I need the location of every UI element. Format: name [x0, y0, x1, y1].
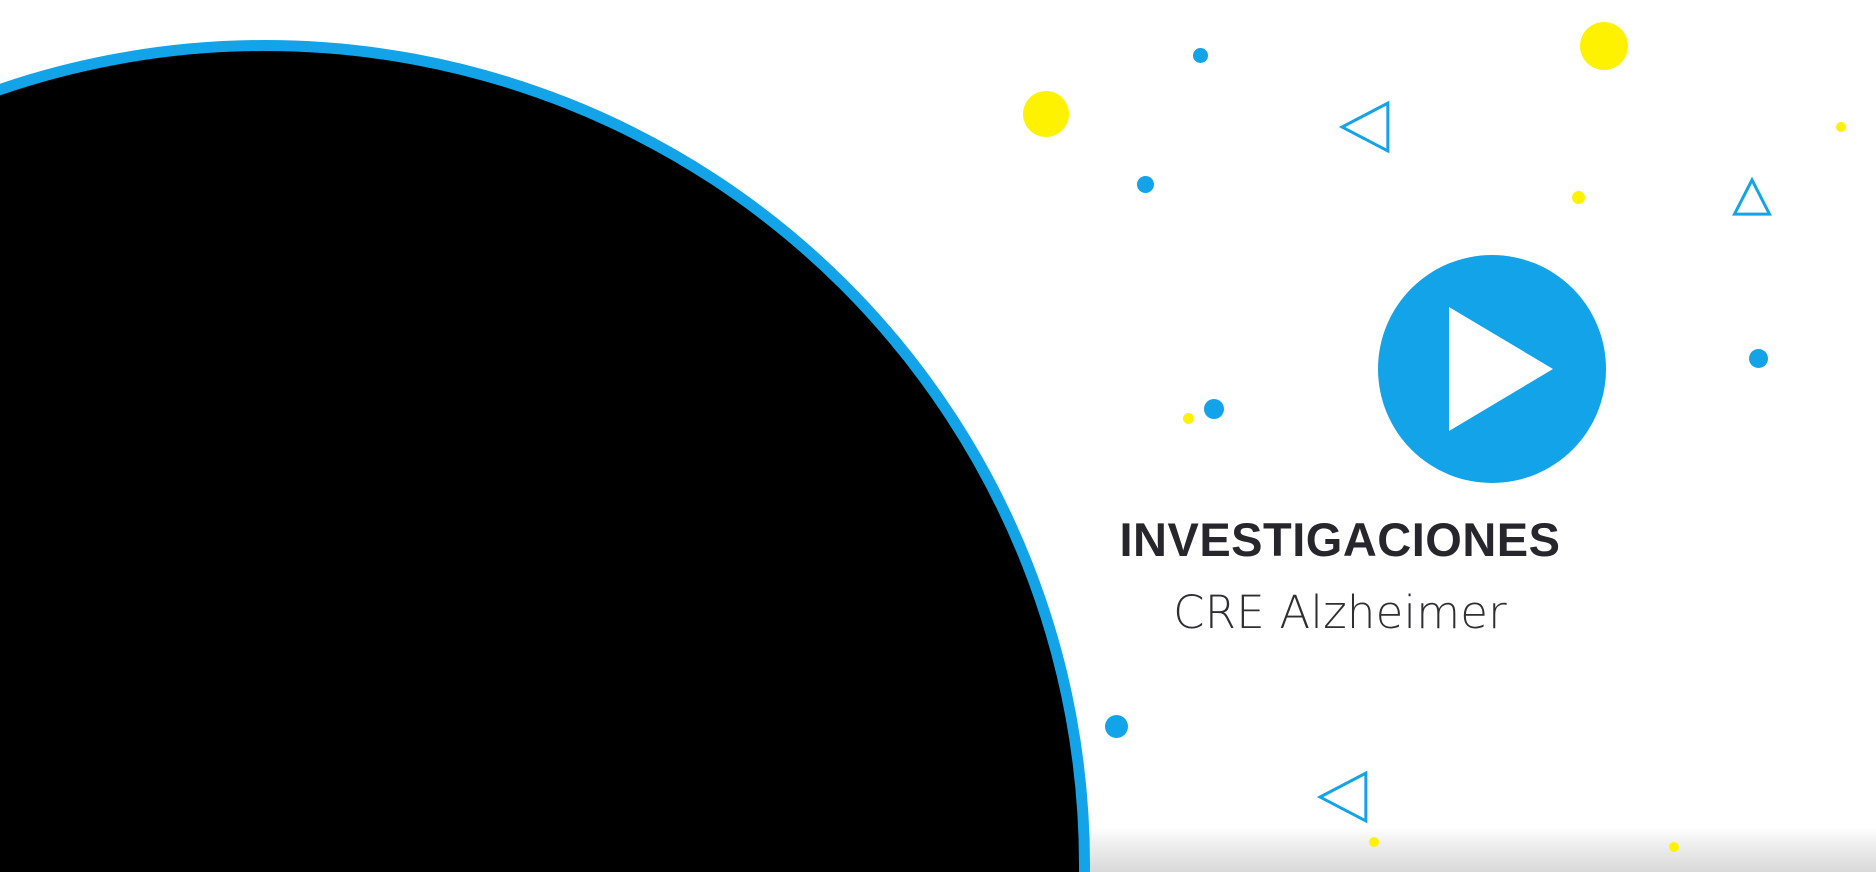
hero-black-circle: [0, 40, 1090, 872]
page-title: INVESTIGACIONES: [1080, 515, 1600, 564]
yellow-dot-4: [1836, 122, 1846, 132]
triangle-left-top: [1340, 100, 1392, 152]
blue-dot-5: [1105, 715, 1128, 738]
blue-dot-3: [1204, 399, 1224, 419]
play-icon: [1449, 307, 1553, 431]
triangle-left-bottom: [1318, 770, 1370, 822]
blue-dot-2: [1137, 176, 1154, 193]
yellow-dot-6: [1369, 837, 1379, 847]
video-thumbnail-stage: INVESTIGACIONES CRE Alzheimer: [0, 0, 1876, 872]
blue-dot-1: [1193, 48, 1208, 63]
yellow-dot-7: [1669, 842, 1679, 852]
page-subtitle: CRE Alzheimer: [1080, 586, 1600, 639]
title-block: INVESTIGACIONES CRE Alzheimer: [1080, 515, 1600, 639]
blue-dot-4: [1749, 349, 1768, 368]
triangle-up-right: [1733, 178, 1771, 216]
yellow-dot-2: [1580, 22, 1628, 70]
yellow-dot-3: [1572, 191, 1585, 204]
yellow-dot-5: [1183, 413, 1194, 424]
play-button[interactable]: [1378, 255, 1606, 483]
yellow-dot-1: [1023, 91, 1069, 137]
